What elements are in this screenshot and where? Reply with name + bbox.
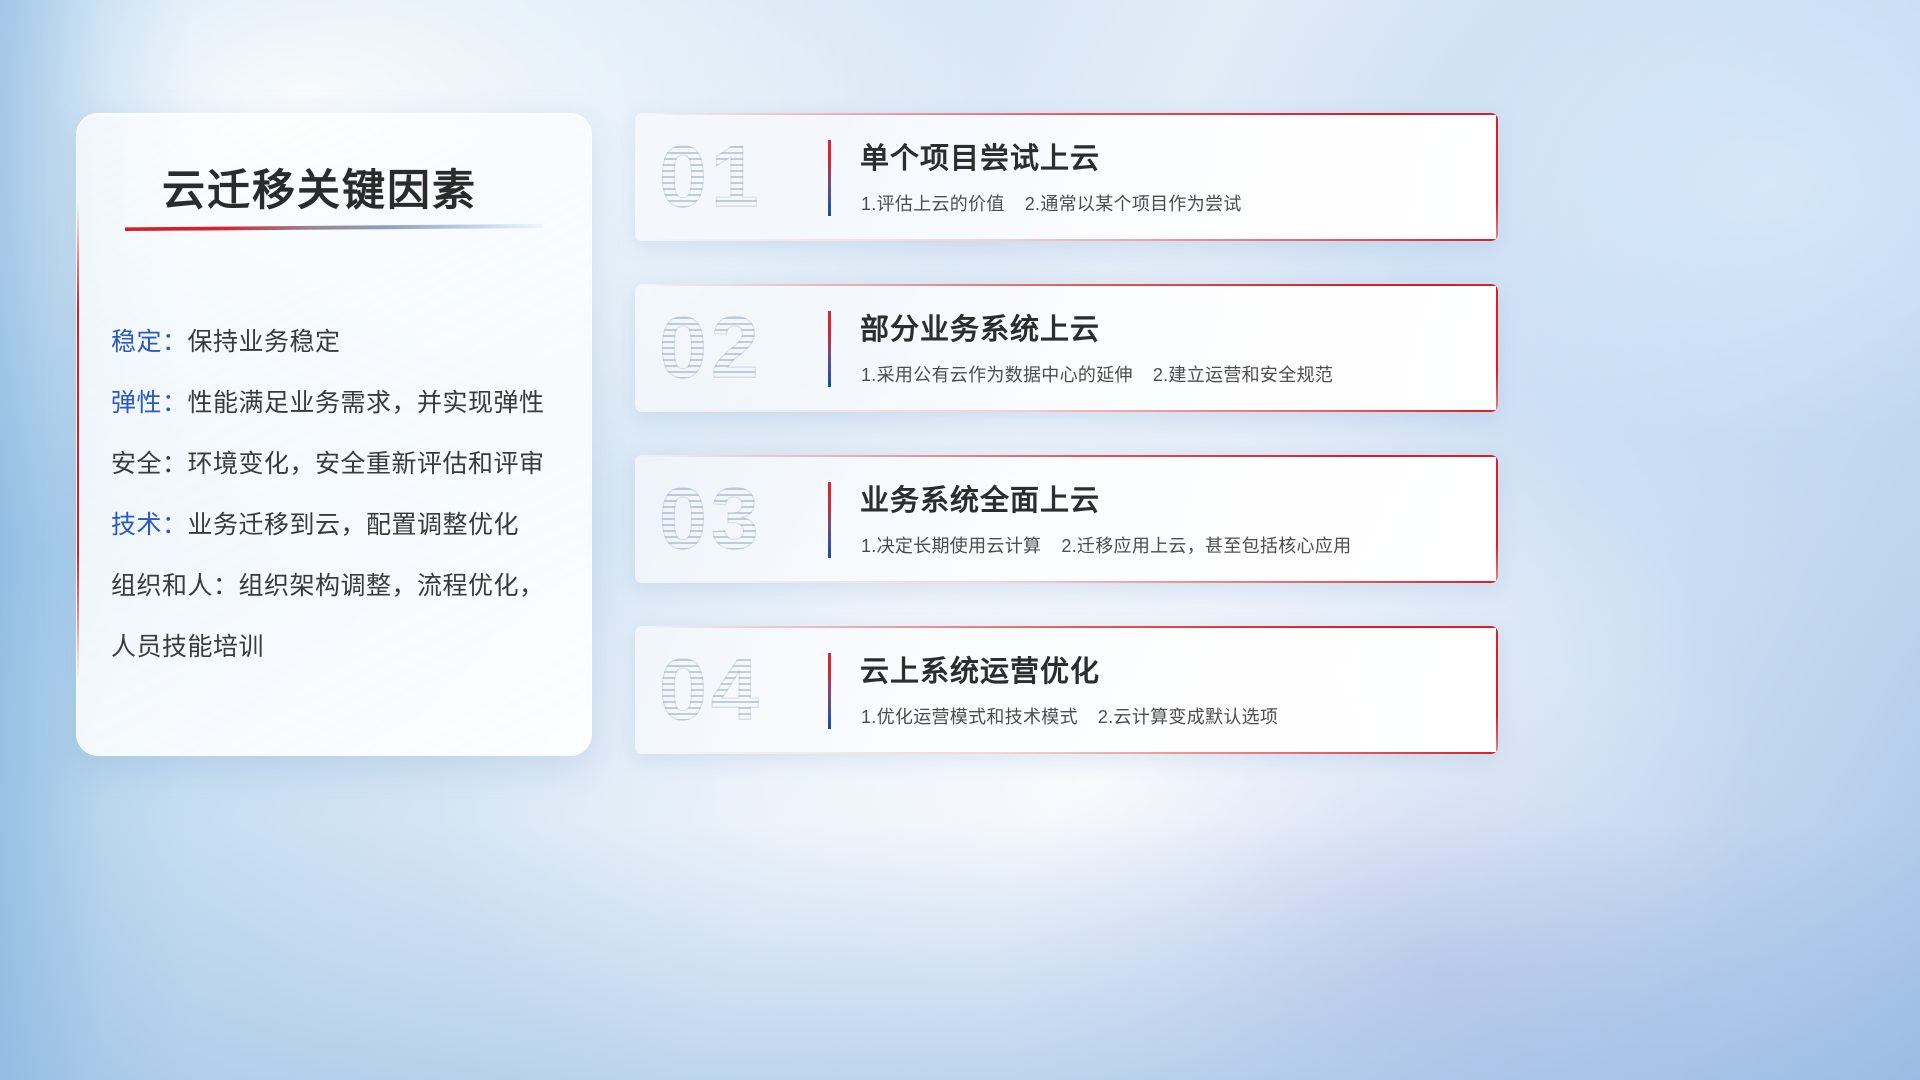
factor-text: 组织架构调整，流程优化， bbox=[239, 572, 545, 600]
stage-desc-item-2: 2.通常以某个项目作为尝试 bbox=[1025, 194, 1242, 214]
key-factors-list: 稳定：保持业务稳定 弹性：性能满足业务需求，并实现弹性 安全：环境变化，安全重新… bbox=[111, 312, 581, 678]
card-edge-bottom bbox=[635, 581, 1498, 583]
stage-desc-item-1: 1.决定长期使用云计算 bbox=[861, 536, 1041, 556]
card-edge-right bbox=[1496, 284, 1498, 412]
stage-title: 单个项目尝试上云 bbox=[860, 135, 1100, 177]
stage-desc-item-2: 2.云计算变成默认选项 bbox=[1098, 707, 1278, 727]
stage-number: 03 bbox=[659, 476, 763, 562]
factor-label: 组织和人： bbox=[111, 572, 239, 600]
stage-card-03[interactable]: 03 业务系统全面上云 1.决定长期使用云计算2.迁移应用上云，甚至包括核心应用 bbox=[635, 455, 1498, 583]
stage-title: 部分业务系统上云 bbox=[860, 306, 1100, 348]
accent-bar-icon bbox=[828, 311, 831, 387]
card-edge-top bbox=[635, 455, 1498, 457]
page-title: 云迁移关键因素 bbox=[162, 156, 477, 218]
card-edge-bottom bbox=[635, 752, 1498, 754]
list-item: 组织和人：组织架构调整，流程优化， bbox=[111, 556, 581, 617]
card-edge-top bbox=[635, 284, 1498, 286]
title-underline-gradient bbox=[125, 224, 543, 231]
stage-card-01[interactable]: 01 单个项目尝试上云 1.评估上云的价值2.通常以某个项目作为尝试 bbox=[635, 113, 1498, 241]
list-item: 技术：业务迁移到云，配置调整优化 bbox=[111, 495, 581, 556]
stage-description: 1.评估上云的价值2.通常以某个项目作为尝试 bbox=[861, 190, 1242, 216]
list-item: 弹性：性能满足业务需求，并实现弹性 bbox=[111, 373, 581, 434]
stage-desc-item-1: 1.优化运营模式和技术模式 bbox=[861, 707, 1078, 727]
stage-number: 04 bbox=[659, 647, 763, 733]
accent-bar-icon bbox=[828, 482, 831, 558]
stage-title: 业务系统全面上云 bbox=[860, 477, 1100, 519]
stage-description: 1.决定长期使用云计算2.迁移应用上云，甚至包括核心应用 bbox=[861, 532, 1351, 558]
key-factors-panel: 云迁移关键因素 稳定：保持业务稳定 弹性：性能满足业务需求，并实现弹性 安全：环… bbox=[76, 113, 592, 756]
migration-stages-list: 01 单个项目尝试上云 1.评估上云的价值2.通常以某个项目作为尝试 02 部分… bbox=[635, 113, 1805, 797]
slide-stage: 云迁移关键因素 稳定：保持业务稳定 弹性：性能满足业务需求，并实现弹性 安全：环… bbox=[0, 0, 1920, 1080]
list-item: 安全：环境变化，安全重新评估和评审 bbox=[111, 434, 581, 495]
stage-number: 02 bbox=[659, 305, 763, 391]
stage-desc-item-2: 2.迁移应用上云，甚至包括核心应用 bbox=[1061, 536, 1351, 556]
factor-text: 人员技能培训 bbox=[111, 633, 264, 661]
factor-text: 环境变化，安全重新评估和评审 bbox=[188, 450, 545, 478]
accent-bar-icon bbox=[828, 140, 831, 216]
factor-label: 技术： bbox=[111, 511, 188, 539]
list-item: 稳定：保持业务稳定 bbox=[111, 312, 581, 373]
factor-label: 安全： bbox=[111, 450, 188, 478]
factor-label: 稳定： bbox=[111, 328, 188, 356]
factor-text: 保持业务稳定 bbox=[188, 328, 341, 356]
accent-bar-icon bbox=[828, 653, 831, 729]
card-edge-bottom bbox=[635, 410, 1498, 412]
stage-card-02[interactable]: 02 部分业务系统上云 1.采用公有云作为数据中心的延伸2.建立运营和安全规范 bbox=[635, 284, 1498, 412]
stage-desc-item-1: 1.采用公有云作为数据中心的延伸 bbox=[861, 365, 1133, 385]
card-edge-bottom bbox=[635, 239, 1498, 241]
stage-title: 云上系统运营优化 bbox=[860, 648, 1100, 690]
card-edge-right bbox=[1496, 626, 1498, 754]
card-edge-top bbox=[635, 113, 1498, 115]
card-edge-right bbox=[1496, 455, 1498, 583]
card-edge-right bbox=[1496, 113, 1498, 241]
stage-desc-item-1: 1.评估上云的价值 bbox=[861, 194, 1005, 214]
stage-description: 1.优化运营模式和技术模式2.云计算变成默认选项 bbox=[861, 703, 1278, 729]
stage-desc-item-2: 2.建立运营和安全规范 bbox=[1153, 365, 1333, 385]
card-edge-top bbox=[635, 626, 1498, 628]
stage-description: 1.采用公有云作为数据中心的延伸2.建立运营和安全规范 bbox=[861, 361, 1333, 387]
stage-card-04[interactable]: 04 云上系统运营优化 1.优化运营模式和技术模式2.云计算变成默认选项 bbox=[635, 626, 1498, 754]
stage-number: 01 bbox=[659, 134, 763, 220]
factor-text: 性能满足业务需求，并实现弹性 bbox=[188, 389, 545, 417]
list-item: 人员技能培训 bbox=[111, 617, 581, 678]
factor-text: 业务迁移到云，配置调整优化 bbox=[188, 511, 520, 539]
factor-label: 弹性： bbox=[111, 389, 188, 417]
